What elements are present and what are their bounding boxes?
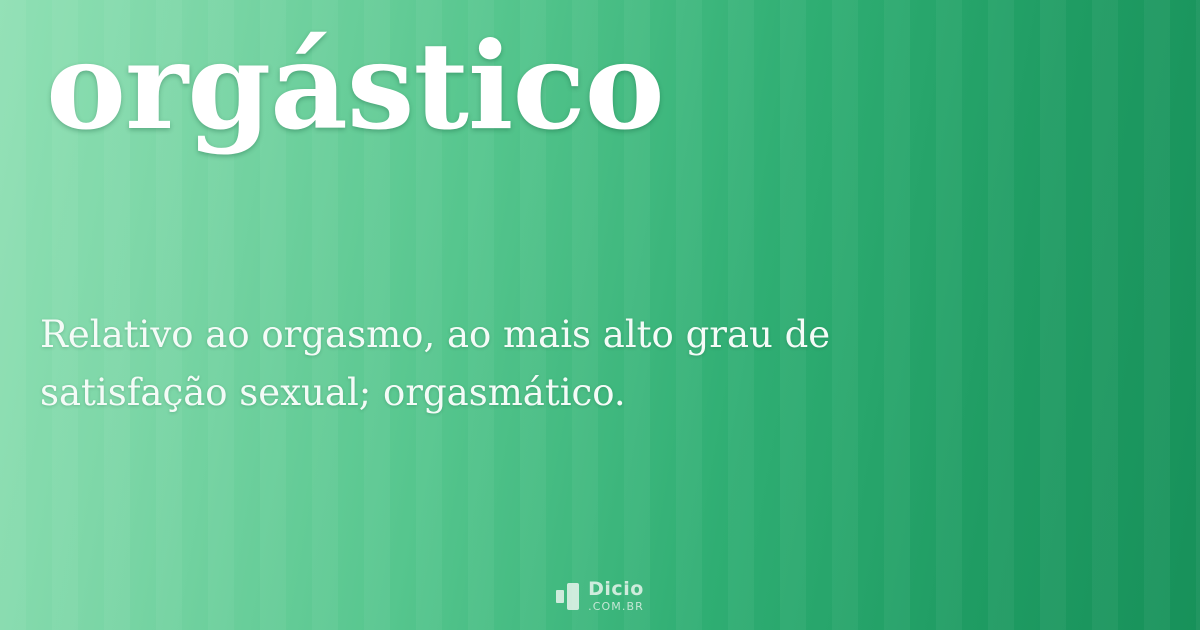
logo-bar-shape (567, 583, 579, 610)
logo-square-shape (556, 590, 564, 603)
logo-wordmark: Dicio .COM.BR (588, 580, 644, 612)
definition-card: orgástico Relativo ao orgasmo, ao mais a… (0, 0, 1200, 630)
definition-text: Relativo ao orgasmo, ao mais alto grau d… (40, 306, 1020, 423)
logo-tld: .COM.BR (588, 601, 644, 612)
logo-mark-icon (556, 583, 579, 610)
page-title: orgástico (46, 24, 664, 150)
logo-name: Dicio (588, 580, 644, 599)
dicio-logo[interactable]: Dicio .COM.BR (0, 580, 1200, 612)
